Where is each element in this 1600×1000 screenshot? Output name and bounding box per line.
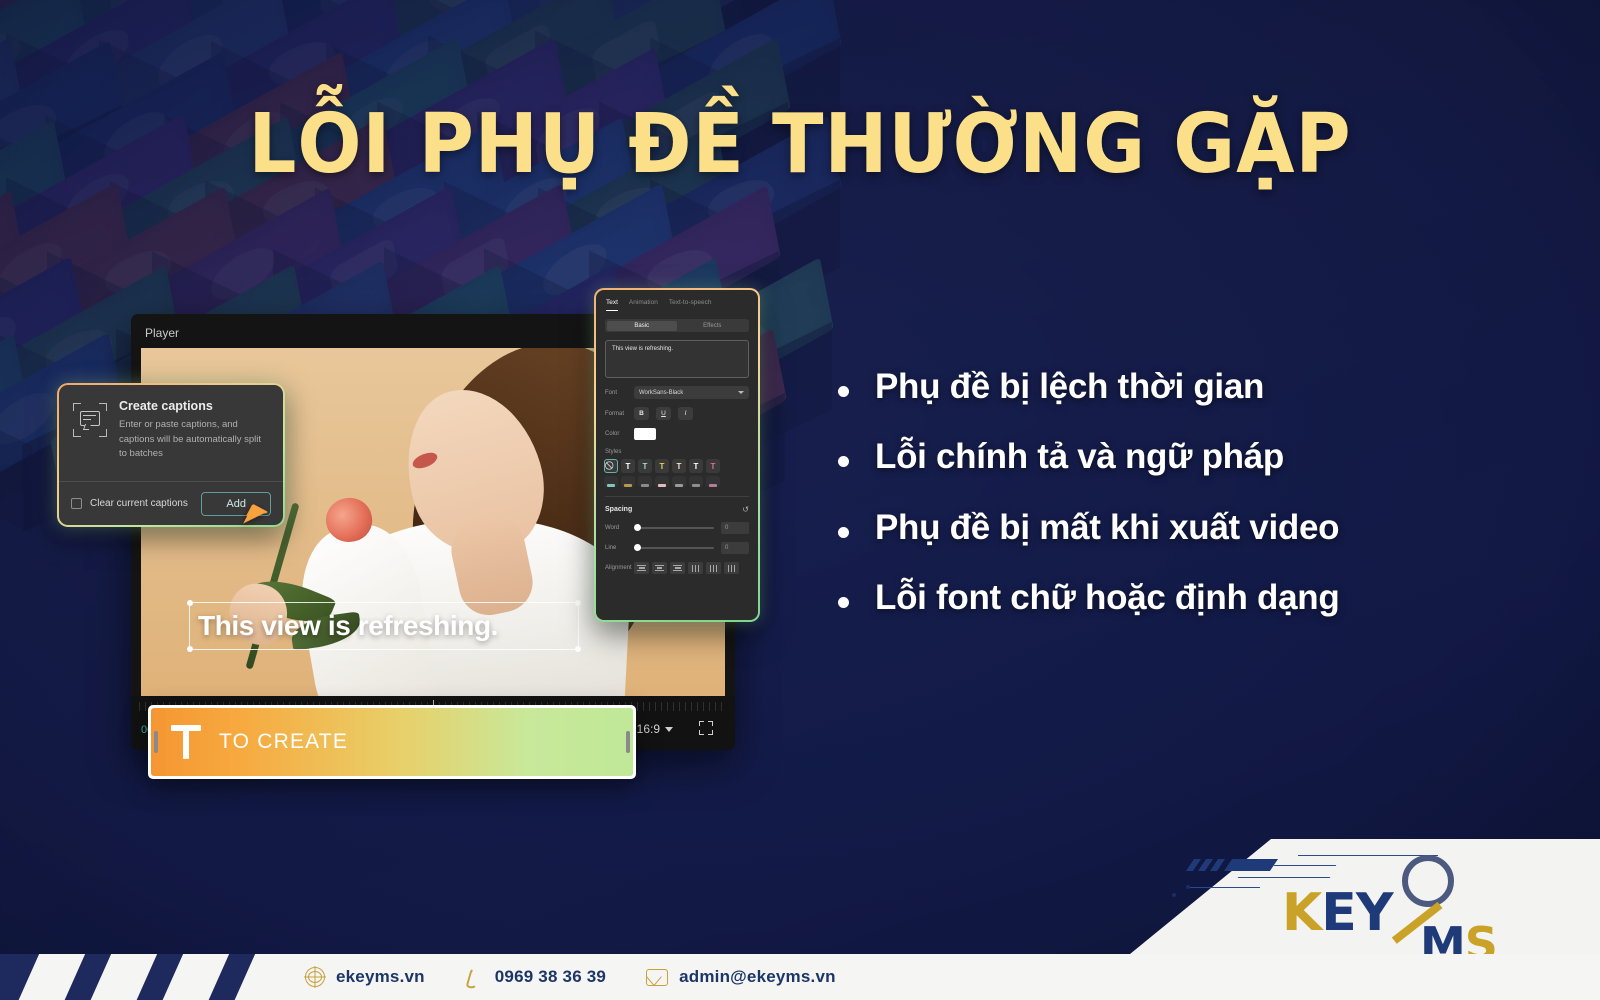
- align-left-button[interactable]: [634, 562, 649, 574]
- tab-animation[interactable]: Animation: [629, 299, 658, 311]
- bullet-text: Phụ đề bị mất khi xuất video: [875, 507, 1339, 548]
- contact-info-row: ekeyms.vn 0969 38 36 39 admin@ekeyms.vn: [305, 954, 836, 1000]
- style-swatch-9[interactable]: [638, 476, 652, 487]
- line-spacing-label: Line: [605, 545, 627, 551]
- caption-overlay-text: This view is refreshing.: [198, 610, 498, 642]
- bullet-list: Phụ đề bị lệch thời gian Lỗi chính tả và…: [838, 366, 1538, 647]
- format-label: Format: [605, 411, 627, 417]
- list-item: Lỗi chính tả và ngữ pháp: [838, 436, 1538, 477]
- logo-letters-ey: EY: [1321, 883, 1392, 943]
- style-swatch-10[interactable]: [655, 476, 669, 487]
- style-swatch-4[interactable]: T: [672, 459, 686, 473]
- alignment-buttons: [634, 562, 739, 574]
- logo-wordmark-key: KEY: [1282, 887, 1392, 939]
- bullet-dot-icon: [838, 527, 849, 538]
- list-item: Phụ đề bị lệch thời gian: [838, 366, 1538, 407]
- contact-email[interactable]: admin@ekeyms.vn: [646, 967, 836, 987]
- logo-letter-k: K: [1282, 883, 1321, 943]
- diagonal-stripes-decoration: [0, 954, 330, 1000]
- timeline-clip-label: TO CREATE: [219, 730, 348, 754]
- style-swatch-5[interactable]: T: [689, 459, 703, 473]
- page-title: LỖI PHỤ ĐỀ THƯỜNG GẶP: [64, 104, 1536, 186]
- alignment-label: Alignment: [605, 565, 627, 571]
- chevron-down-icon: [665, 727, 673, 732]
- segment-effects[interactable]: Effects: [677, 321, 748, 331]
- styles-grid: ⃠ T T T T T T: [596, 459, 758, 473]
- contact-footer: ekeyms.vn 0969 38 36 39 admin@ekeyms.vn: [0, 954, 1600, 1000]
- style-swatch-11[interactable]: [672, 476, 686, 487]
- panel-divider: [605, 496, 749, 497]
- word-spacing-value[interactable]: 0: [721, 522, 749, 534]
- list-item: Phụ đề bị mất khi xuất video: [838, 507, 1538, 548]
- contact-phone[interactable]: 0969 38 36 39: [465, 967, 606, 987]
- list-item: Lỗi font chữ hoặc định dạng: [838, 577, 1538, 618]
- clip-trim-handle-left[interactable]: [154, 731, 158, 753]
- text-T-icon: [171, 725, 201, 759]
- key-head-icon: [1402, 855, 1454, 907]
- word-spacing-row: Word 0: [605, 522, 749, 534]
- slider-knob[interactable]: [634, 524, 641, 531]
- caption-textarea[interactable]: This view is refreshing.: [605, 340, 749, 378]
- text-properties-panel: Text Animation Text-to-speech Basic Effe…: [594, 288, 760, 622]
- style-swatch-13[interactable]: [706, 476, 720, 487]
- timeline-text-clip[interactable]: TO CREATE: [148, 705, 636, 779]
- style-swatch-2[interactable]: T: [638, 459, 652, 473]
- line-spacing-row: Line 0: [605, 542, 749, 554]
- logo-letter-s: S: [1465, 917, 1497, 954]
- style-swatch-6[interactable]: T: [706, 459, 720, 473]
- style-swatch-none[interactable]: ⃠: [604, 459, 618, 473]
- slider-knob[interactable]: [634, 544, 641, 551]
- aspect-ratio-dropdown[interactable]: 16:9: [637, 722, 673, 736]
- phone-icon: [465, 968, 484, 987]
- format-row: Format B U I: [605, 407, 749, 420]
- caption-selection-box[interactable]: This view is refreshing.: [189, 602, 579, 650]
- style-swatch-7[interactable]: [604, 476, 618, 487]
- globe-icon: [305, 967, 325, 987]
- spacing-header: Spacing ↺: [605, 505, 749, 514]
- clear-current-captions-checkbox[interactable]: Clear current captions: [71, 498, 188, 509]
- color-row: Color: [605, 428, 749, 440]
- styles-label: Styles: [605, 449, 758, 455]
- checkbox-icon[interactable]: [71, 498, 82, 509]
- resize-handle-top-left[interactable]: [187, 600, 193, 606]
- word-spacing-slider[interactable]: [634, 527, 714, 529]
- word-spacing-label: Word: [605, 525, 627, 531]
- timeline-clip-body[interactable]: TO CREATE: [151, 708, 633, 776]
- logo-letter-m: M: [1420, 917, 1465, 954]
- player-label: Player: [145, 326, 179, 340]
- styles-grid-row-2: [596, 473, 758, 487]
- bullet-dot-icon: [838, 456, 849, 467]
- font-value: WorkSans-Black: [639, 390, 683, 396]
- clear-current-captions-label: Clear current captions: [90, 498, 188, 509]
- align-center-button[interactable]: [652, 562, 667, 574]
- email-text: admin@ekeyms.vn: [679, 967, 836, 987]
- panel-tabs: Text Animation Text-to-speech: [596, 290, 758, 311]
- bullet-text: Lỗi chính tả và ngữ pháp: [875, 436, 1284, 477]
- aspect-ratio-value: 16:9: [637, 722, 660, 736]
- resize-handle-bottom-left[interactable]: [187, 646, 193, 652]
- tab-text-to-speech[interactable]: Text-to-speech: [669, 299, 712, 311]
- bullet-text: Lỗi font chữ hoặc định dạng: [875, 577, 1339, 618]
- phone-text: 0969 38 36 39: [495, 967, 606, 987]
- envelope-icon: [646, 969, 668, 986]
- font-select[interactable]: WorkSans-Black: [634, 386, 749, 399]
- create-captions-description: Enter or paste captions, and captions wi…: [119, 418, 269, 462]
- segmented-control: Basic Effects: [605, 319, 749, 332]
- line-spacing-value[interactable]: 0: [721, 542, 749, 554]
- bullet-dot-icon: [838, 597, 849, 608]
- line-spacing-slider[interactable]: [634, 547, 714, 549]
- style-swatch-12[interactable]: [689, 476, 703, 487]
- create-captions-title: Create captions: [119, 399, 269, 413]
- align-top-button[interactable]: [688, 562, 703, 574]
- font-label: Font: [605, 390, 627, 396]
- resize-handle-bottom-right[interactable]: [575, 646, 581, 652]
- alignment-row: Alignment: [605, 562, 749, 574]
- fullscreen-icon[interactable]: [699, 721, 713, 735]
- align-middle-button[interactable]: [706, 562, 721, 574]
- style-swatch-8[interactable]: [621, 476, 635, 487]
- website-text: ekeyms.vn: [336, 967, 425, 987]
- clip-trim-handle-right[interactable]: [626, 731, 630, 753]
- resize-handle-top-right[interactable]: [575, 600, 581, 606]
- logo-wordmark-ms: MS: [1420, 917, 1497, 954]
- style-swatch-3[interactable]: T: [655, 459, 669, 473]
- brand-logo: KEY MS: [1130, 839, 1600, 954]
- align-right-button[interactable]: [670, 562, 685, 574]
- tab-text[interactable]: Text: [606, 299, 618, 311]
- style-swatch-1[interactable]: T: [621, 459, 635, 473]
- font-row: Font WorkSans-Black: [605, 386, 749, 399]
- align-bottom-button[interactable]: [724, 562, 739, 574]
- color-swatch[interactable]: [634, 428, 656, 440]
- bullet-text: Phụ đề bị lệch thời gian: [875, 366, 1264, 407]
- reset-icon[interactable]: ↺: [742, 505, 749, 514]
- create-captions-header: Create captions Enter or paste captions,…: [59, 385, 283, 462]
- italic-button[interactable]: I: [678, 407, 693, 420]
- segment-basic[interactable]: Basic: [607, 321, 678, 331]
- bold-button[interactable]: B: [634, 407, 649, 420]
- scan-captions-icon: [73, 403, 107, 437]
- bullet-dot-icon: [838, 386, 849, 397]
- underline-button[interactable]: U: [656, 407, 671, 420]
- spacing-label: Spacing: [605, 506, 632, 513]
- contact-website[interactable]: ekeyms.vn: [305, 967, 425, 987]
- chevron-down-icon: [738, 391, 744, 394]
- color-label: Color: [605, 431, 627, 437]
